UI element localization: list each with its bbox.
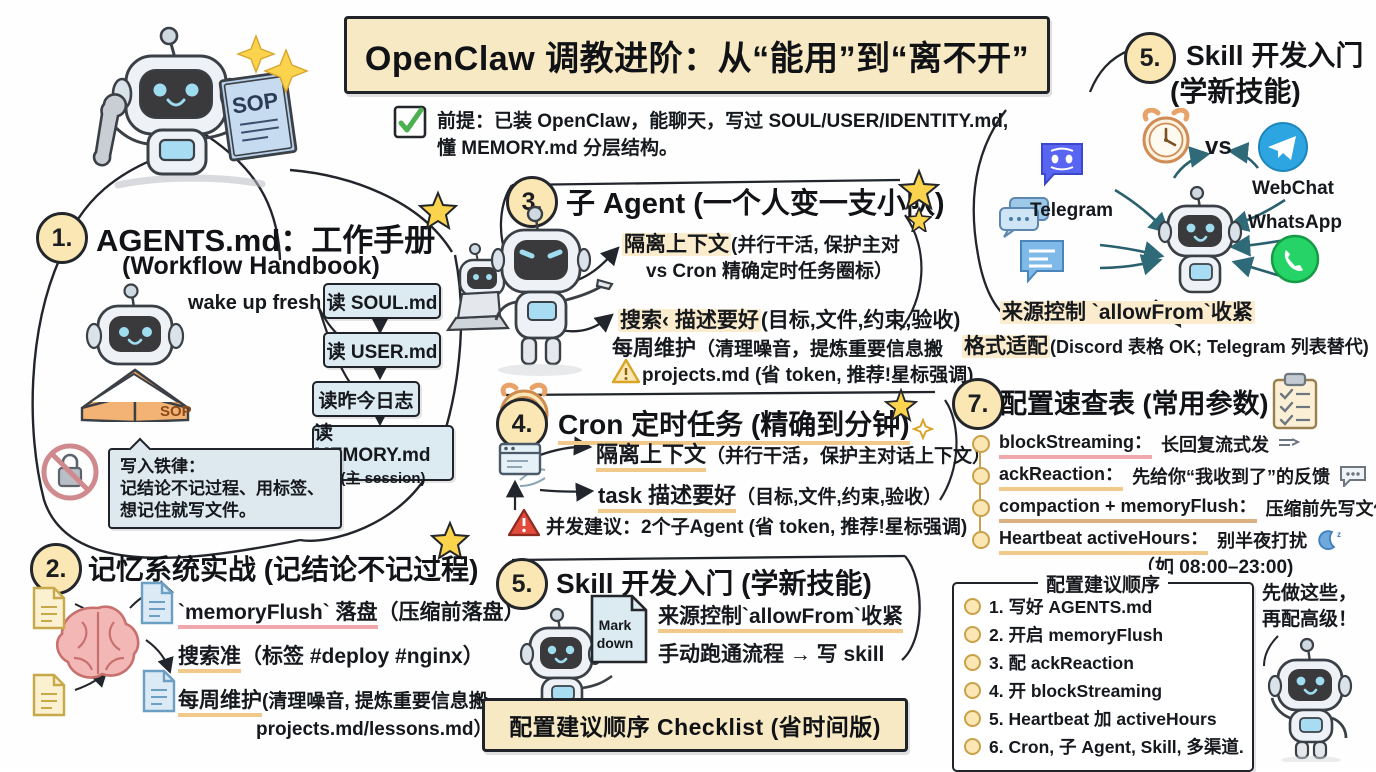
checklist-bullet-5 [964, 710, 981, 727]
write-rule-line-1: 记结论不记过程、用标签、 [120, 478, 330, 500]
telegram-icon [1256, 120, 1310, 179]
sparkle-icon-sec3-small [906, 206, 932, 237]
config-row-1-bullet [972, 435, 990, 453]
read-journal-label: 读昨今日志 [318, 386, 413, 413]
section-3-line-1-key: 隔离上下文 [622, 233, 731, 256]
write-rule-line-2: 想记住就写文件。 [120, 500, 330, 522]
section-5-center-line-1-text: 来源控制`allowFrom`收紧 [658, 605, 903, 633]
config-row-1-key: blockStreaming： [999, 428, 1152, 459]
read-memory-sub: (主 session) [340, 467, 425, 488]
read-user-box: 读 USER.md [323, 332, 441, 368]
markdown-doc-icon: Mark down [588, 592, 650, 671]
section-4-line-1-rest: （并行干活，保护主对话上下文） [706, 446, 991, 467]
section-4-line-1: 隔离上下文（并行干活，保护主对话上下文） [596, 437, 991, 469]
infographic-canvas: SOP OpenClaw 调教进阶：从“能用”到“离不开” 前提：已装 Open… [0, 0, 1376, 768]
checklist-item-6-label: 6. Cron, 子 Agent, Skill, 多渠道. [989, 734, 1244, 759]
robot-waving-icon [1252, 636, 1372, 762]
checklist-item-3-label: 3. 配 ackReaction [989, 650, 1134, 675]
checklist-item-2-label: 2. 开启 memoryFlush [989, 622, 1163, 647]
config-row-2: ackReaction： 先给你“我收到了”的反馈 [972, 460, 1367, 491]
chat-lines-icon [1018, 238, 1066, 291]
config-row-1: blockStreaming： 长回复流式发 [972, 428, 1300, 459]
whatsapp-label: WhatsApp [1248, 212, 1342, 234]
prerequisite-line-2: 懂 MEMORY.md 分层结构。 [437, 133, 678, 160]
section-7-number-label: 7. [968, 390, 989, 419]
checklist-item-6[interactable]: 6. Cron, 子 Agent, Skill, 多渠道. [954, 732, 1252, 760]
checklist-item-5-label: 5. Heartbeat 加 activeHours [989, 706, 1217, 731]
section-5-right-line-1-text: 来源控制 `allowFrom`收紧 [1000, 301, 1255, 324]
section-3-line-2: vs Cron 精确定时任务圈标） [646, 256, 893, 283]
checklist-item-3[interactable]: 3. 配 ackReaction [954, 648, 1252, 676]
memory-item-2-key: 搜索准 [178, 645, 241, 673]
checklist-bullet-3 [964, 654, 981, 671]
config-row-2-bullet [972, 467, 990, 485]
svg-text:SOP: SOP [160, 403, 192, 420]
checklist-bullet-1 [964, 598, 981, 615]
checklist-item-2[interactable]: 2. 开启 memoryFlush [954, 620, 1252, 648]
section-3-line-3: 搜索‹ 描述要好(目标,文件,约束,验收) [618, 304, 960, 334]
memory-item-1: `memoryFlush` 落盘（压缩前落盘） [178, 596, 525, 626]
checklist-item-4-label: 4. 开 blockStreaming [989, 678, 1162, 703]
section-5-right-number-label: 5. [1140, 44, 1161, 73]
section-5-center-line-2: 手动跑通流程 → 写 skill [658, 638, 884, 668]
svg-text:Mark: Mark [599, 617, 632, 633]
whatsapp-icon [1268, 232, 1322, 291]
mascot-robot: SOP [60, 18, 310, 188]
config-row-3-key: compaction + memoryFlush： [999, 492, 1257, 523]
config-row-4-value: 别半夜打扰 [1217, 527, 1307, 553]
section-3-line-4-rest: （清理噪音，提炼重要信息搬 [696, 339, 943, 360]
section-5-right-title-line-2: (学新技能) [1170, 70, 1301, 110]
document-icon-yellow-2 [30, 672, 68, 723]
config-row-2-value: 先给你“我收到了”的反馈 [1132, 463, 1330, 489]
bottom-right-note-line-2: 再配高级！ [1262, 604, 1357, 631]
read-journal-box: 读昨今日志 [312, 381, 420, 417]
page-title: OpenClaw 调教进阶：从“能用”到“离不开” [365, 31, 1029, 80]
section-5-center-number: 5. [496, 558, 548, 610]
section-1-number-label: 1. [52, 224, 73, 253]
checklist-item-5[interactable]: 5. Heartbeat 加 activeHours [954, 704, 1252, 732]
center-robot-right [1148, 186, 1258, 302]
sub-agent-robots [440, 200, 630, 380]
section-4-number-label: 4. [512, 410, 533, 439]
config-row-2-key: ackReaction： [999, 460, 1123, 491]
checklist-item-4[interactable]: 4. 开 blockStreaming [954, 676, 1252, 704]
bottom-right-note-line-1: 先做这些， [1262, 578, 1357, 605]
config-row-3: compaction + memoryFlush： 压缩前先写文件 [972, 492, 1376, 523]
section-7-number: 7. [952, 378, 1004, 430]
section-4-warning-line: 并发建议：2个子Agent (省 token, 推荐!星标强调) [546, 512, 967, 539]
memory-item-1-key: `memoryFlush` 落盘 [178, 601, 378, 629]
section-1-number: 1. [36, 212, 88, 264]
memory-item-3-rest: (清理噪音, 提炼重要信息搬 [262, 691, 488, 712]
section-3-line-3-rest: (目标,文件,约束,验收) [761, 309, 961, 332]
checklist-bullet-2 [964, 626, 981, 643]
discord-icon [1038, 140, 1086, 193]
webchat-label: WebChat [1252, 178, 1334, 200]
memory-item-3: 每周维护(清理噪音, 提炼重要信息搬 [178, 684, 488, 714]
memory-item-2: 搜索准（标签 #deploy #nginx） [178, 640, 484, 670]
document-icon-yellow [30, 585, 68, 636]
write-rule-note: 写入铁律： 记结论不记过程、用标签、 想记住就写文件。 [108, 448, 342, 529]
section-3-line-4: 每周维护（清理噪音，提炼重要信息搬 [612, 332, 943, 362]
section-5-right-line-2: 格式适配(Discord 表格 OK; Telegram 列表替代) [962, 330, 1369, 360]
warning-triangle-red-icon [508, 508, 540, 543]
read-soul-box: 读 SOUL.md [323, 283, 441, 319]
section-3-line-3-key: 搜索‹ 描述要好 [618, 309, 761, 332]
memory-item-1-rest: （压缩前落盘） [378, 601, 525, 624]
section-7-title: 配置速查表 (常用参数) [1000, 382, 1268, 421]
stream-icon [1278, 436, 1300, 452]
checklist-bullet-4 [964, 682, 981, 699]
section-5-center-number-label: 5. [512, 570, 533, 599]
checklist-caption: 配置建议顺序 [1038, 570, 1168, 597]
no-lock-icon [38, 440, 102, 509]
telegram-left-label: Telegram [1030, 200, 1113, 222]
section-3-warning-line: projects.md (省 token, 推荐!星标强调) [642, 360, 973, 387]
checklist-bullet-6 [964, 738, 981, 755]
config-row-1-value: 长回复流式发 [1161, 431, 1269, 457]
section-5-right-title-line-1: Skill 开发入门 [1186, 34, 1363, 74]
section-5-center-line-1: 来源控制`allowFrom`收紧 [658, 600, 903, 630]
read-soul-label: 读 SOUL.md [327, 288, 438, 315]
section-5-right-line-2-rest: (Discord 表格 OK; Telegram 列表替代) [1050, 337, 1369, 357]
document-icon-blue-2 [140, 668, 178, 719]
section-5-right-line-2-key: 格式适配 [962, 335, 1050, 358]
footer-banner: 配置建议顺序 Checklist (省时间版) [482, 698, 908, 752]
svg-text:down: down [597, 635, 634, 651]
checklist-item-1-label: 1. 写好 AGENTS.md [989, 594, 1152, 619]
section-5-right-line-1: 来源控制 `allowFrom`收紧 [1000, 296, 1255, 326]
alarm-clock-icon-right [1135, 108, 1197, 173]
read-user-label: 读 USER.md [327, 337, 438, 364]
title-banner: OpenClaw 调教进阶：从“能用”到“离不开” [344, 16, 1050, 94]
memory-item-3-tail: projects.md/lessons.md） [256, 714, 493, 741]
config-row-3-bullet [972, 499, 990, 517]
prerequisite-line-1: 前提：已装 OpenClaw，能聊天，写过 SOUL/USER/IDENTITY… [437, 106, 1008, 133]
section-4-line-1-key: 隔离上下文 [596, 442, 706, 472]
section-4-line-2: task 描述要好（目标,文件,约束,验收） [598, 478, 942, 510]
section-4-line-2-rest: （目标,文件,约束,验收） [736, 487, 942, 508]
svg-text:z: z [1337, 530, 1341, 539]
write-rule-title: 写入铁律： [120, 456, 330, 478]
config-row-4-key: Heartbeat activeHours： [999, 524, 1208, 555]
prerequisite-check-icon [392, 104, 428, 145]
memory-item-3-key: 每周维护 [178, 689, 262, 717]
section-1-subtitle: (Workflow Handbook) [122, 252, 380, 281]
footer-banner-title: 配置建议顺序 Checklist (省时间版) [509, 708, 881, 742]
vs-label: vs [1205, 133, 1232, 161]
section-3-line-4-key: 每周维护 [612, 337, 696, 360]
browser-window-icon [498, 440, 542, 485]
section-3-line-1: 隔离上下文(并行干活, 保护主对 [622, 228, 900, 258]
warning-triangle-icon [612, 358, 640, 389]
chat-bubble-icon [1339, 465, 1367, 487]
memory-item-2-rest: （标签 #deploy #nginx） [241, 645, 484, 668]
config-row-3-value: 压缩前先写文件 [1266, 495, 1376, 521]
section-3-line-1-rest: (并行干活, 保护主对 [731, 235, 900, 256]
section-4-line-2-key: task 描述要好 [598, 483, 736, 513]
document-icon-blue-1 [138, 580, 176, 631]
section-5-right-number: 5. [1124, 32, 1176, 84]
moon-zzz-icon: z [1316, 528, 1342, 552]
section-2-number-label: 2. [46, 555, 67, 584]
checklist-box: 配置建议顺序 1. 写好 AGENTS.md 2. 开启 memoryFlush… [952, 582, 1254, 772]
config-row-4-bullet [972, 531, 990, 549]
config-row-4: Heartbeat activeHours： 别半夜打扰 z [972, 524, 1342, 555]
